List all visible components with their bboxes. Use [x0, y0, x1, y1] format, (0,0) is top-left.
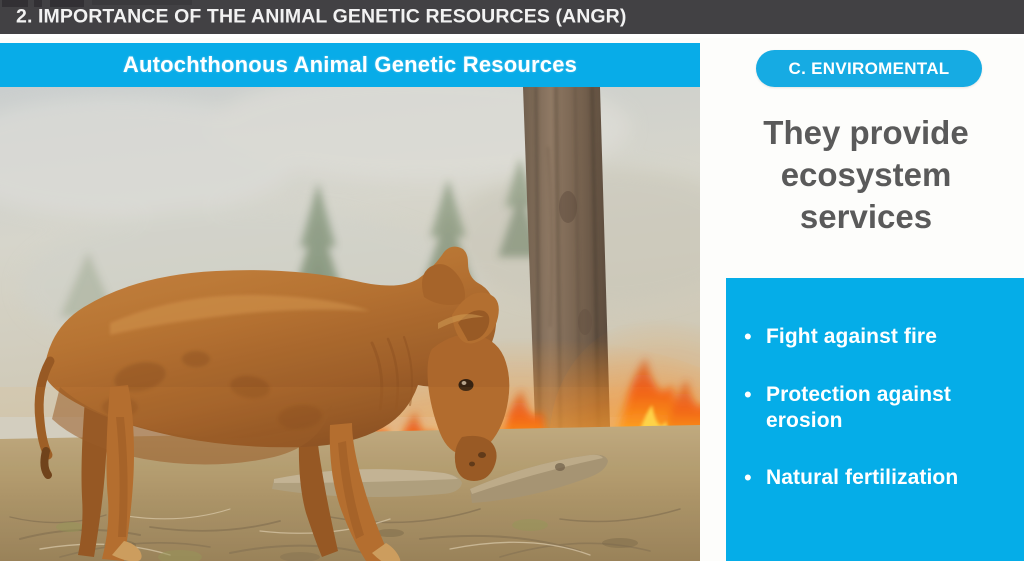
headline-line-3: services [716, 196, 1016, 238]
header-artifact-block-4 [92, 0, 192, 5]
list-item-label: Protection against erosion [766, 382, 1014, 433]
slide-header-bar: 2. IMPORTANCE OF THE ANIMAL GENETIC RESO… [0, 0, 1024, 34]
photo-caption-label: Autochthonous Animal Genetic Resources [123, 52, 577, 78]
headline-text: They provide ecosystem services [716, 112, 1016, 239]
slide-canvas: 2. IMPORTANCE OF THE ANIMAL GENETIC RESO… [0, 0, 1024, 561]
status-badge: C. ENVIROMENTAL [756, 50, 982, 87]
headline-line-2: ecosystem [716, 154, 1016, 196]
list-item: • Protection against erosion [740, 382, 1014, 433]
ecosystem-services-list: • Fight against fire • Protection agains… [726, 278, 1024, 561]
photo-caption-bar: Autochthonous Animal Genetic Resources [0, 43, 700, 87]
list-item-label: Fight against fire [766, 324, 937, 350]
bullet-dot-icon: • [740, 382, 766, 408]
headline-line-1: They provide [716, 112, 1016, 154]
bullet-dot-icon: • [740, 465, 766, 491]
photo-illustration [0, 87, 700, 561]
page-title: 2. IMPORTANCE OF THE ANIMAL GENETIC RESO… [16, 6, 626, 29]
list-item: • Natural fertilization [740, 465, 1014, 491]
header-divider [0, 34, 1024, 38]
bullet-dot-icon: • [740, 324, 766, 350]
list-item: • Fight against fire [740, 324, 1014, 350]
list-item-label: Natural fertilization [766, 465, 958, 491]
badge-label: C. ENVIROMENTAL [789, 59, 950, 79]
cow-wildfire-photo [0, 87, 700, 561]
